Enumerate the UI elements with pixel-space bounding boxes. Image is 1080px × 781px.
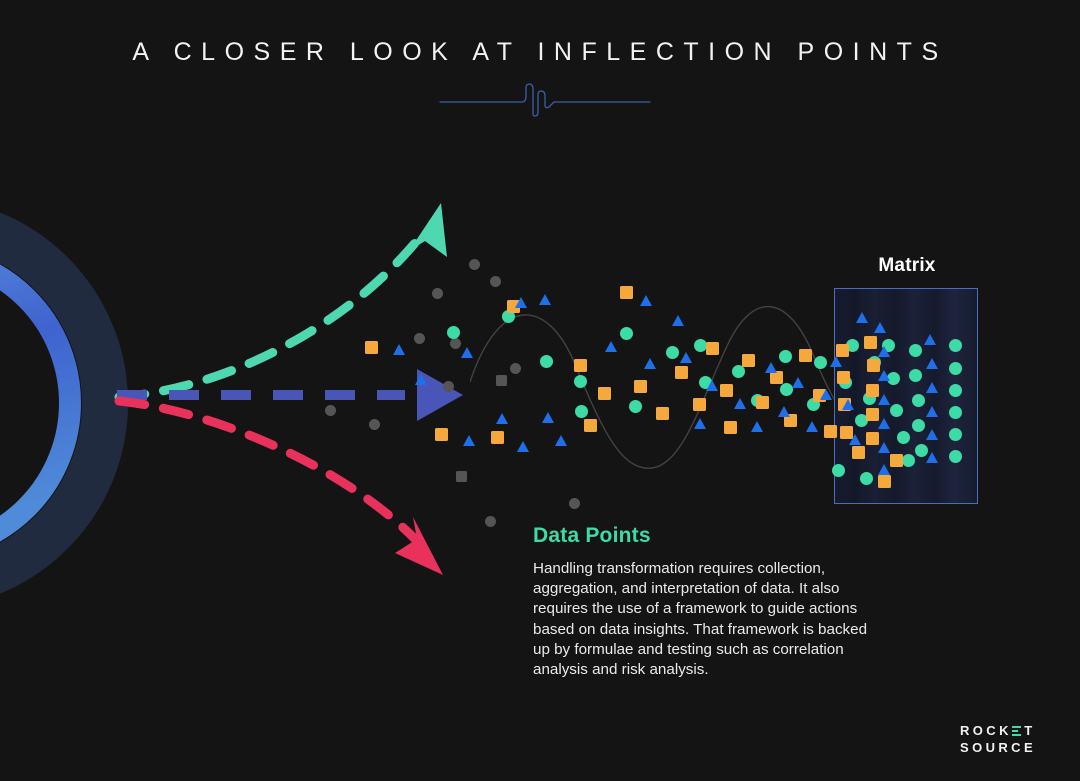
data-point-circle (447, 326, 460, 339)
data-point-triangle (926, 406, 938, 417)
data-point-circle (485, 516, 496, 527)
data-point-triangle (680, 352, 692, 363)
data-point-square (598, 387, 611, 400)
data-point-square (584, 419, 597, 432)
data-point-triangle (555, 435, 567, 446)
data-point-circle (432, 288, 443, 299)
data-point-circle (469, 259, 480, 270)
data-point-circle (860, 472, 873, 485)
data-point-square (456, 471, 467, 482)
data-point-circle (832, 464, 845, 477)
data-point-square (675, 366, 688, 379)
data-point-triangle (694, 418, 706, 429)
data-point-triangle (856, 312, 868, 323)
data-point-square (706, 342, 719, 355)
data-point-circle (540, 355, 553, 368)
data-point-circle (949, 428, 962, 441)
data-point-circle (490, 276, 501, 287)
data-point-triangle (640, 295, 652, 306)
data-point-circle (890, 404, 903, 417)
data-point-circle (814, 356, 827, 369)
data-point-triangle (842, 399, 854, 410)
data-point-circle (325, 405, 336, 416)
data-point-triangle (734, 398, 746, 409)
data-point-triangle (874, 322, 886, 333)
data-point-triangle (515, 297, 527, 308)
data-point-triangle (644, 358, 656, 369)
data-point-circle (949, 406, 962, 419)
data-point-triangle (926, 429, 938, 440)
data-point-circle (629, 400, 642, 413)
data-point-triangle (672, 315, 684, 326)
data-point-triangle (706, 380, 718, 391)
logo-line-one: ROCK T (960, 722, 1048, 739)
data-point-triangle (517, 441, 529, 452)
data-point-circle (369, 419, 380, 430)
data-point-triangle (751, 421, 763, 432)
data-point-circle (694, 339, 707, 352)
data-point-circle (414, 333, 425, 344)
data-point-triangle (926, 452, 938, 463)
data-point-square (878, 475, 891, 488)
data-point-triangle (878, 346, 890, 357)
data-point-circle (443, 381, 454, 392)
data-point-square (720, 384, 733, 397)
data-point-circle (902, 454, 915, 467)
data-point-circle (450, 338, 461, 349)
data-point-square (890, 454, 903, 467)
data-point-square (365, 341, 378, 354)
data-point-circle (912, 419, 925, 432)
caption-body: Handling transformation requires collect… (533, 559, 878, 680)
data-point-triangle (830, 356, 842, 367)
caption-block: Data Points Handling transformation requ… (533, 524, 878, 680)
data-point-circle (949, 384, 962, 397)
data-point-circle (510, 363, 521, 374)
data-point-triangle (878, 464, 890, 475)
rocketsource-logo: ROCK T SOURCE (960, 722, 1048, 756)
data-point-circle (666, 346, 679, 359)
data-point-triangle (542, 412, 554, 423)
logo-line-two: SOURCE (960, 739, 1048, 756)
data-point-circle (912, 394, 925, 407)
logo-rock-text: ROCK (960, 722, 1012, 739)
infographic-canvas: A CLOSER LOOK AT INFLECTION POINTS (0, 0, 1080, 781)
data-point-square (824, 425, 837, 438)
data-point-circle (620, 327, 633, 340)
data-point-circle (575, 405, 588, 418)
data-point-triangle (605, 341, 617, 352)
data-point-triangle (820, 389, 832, 400)
data-point-square (491, 431, 504, 444)
data-point-square (656, 407, 669, 420)
data-point-square (693, 398, 706, 411)
data-point-circle (897, 431, 910, 444)
data-point-square (756, 396, 769, 409)
data-point-square (836, 344, 849, 357)
data-point-circle (569, 498, 580, 509)
data-point-circle (949, 362, 962, 375)
data-point-triangle (806, 421, 818, 432)
data-point-square (620, 286, 633, 299)
data-point-square (799, 349, 812, 362)
data-point-triangle (461, 347, 473, 358)
data-point-triangle (878, 370, 890, 381)
data-point-square (837, 371, 850, 384)
data-point-square (574, 359, 587, 372)
data-point-square (852, 446, 865, 459)
data-point-square (864, 336, 877, 349)
data-point-triangle (926, 358, 938, 369)
caption-heading: Data Points (533, 524, 878, 548)
data-point-square (742, 354, 755, 367)
data-point-triangle (778, 406, 790, 417)
data-point-triangle (765, 362, 777, 373)
three-bar-e-glyph-icon (1012, 726, 1021, 736)
data-point-triangle (878, 442, 890, 453)
data-point-triangle (539, 294, 551, 305)
data-point-circle (779, 350, 792, 363)
data-point-triangle (878, 394, 890, 405)
data-point-circle (949, 339, 962, 352)
data-point-triangle (849, 434, 861, 445)
data-point-square (496, 375, 507, 386)
data-point-triangle (415, 374, 427, 385)
data-point-square (724, 421, 737, 434)
data-point-square (634, 380, 647, 393)
logo-t-text: T (1024, 722, 1035, 739)
data-point-circle (909, 344, 922, 357)
data-point-circle (909, 369, 922, 382)
data-point-triangle (926, 382, 938, 393)
data-point-triangle (463, 435, 475, 446)
data-point-circle (949, 450, 962, 463)
data-point-triangle (924, 334, 936, 345)
data-point-triangle (792, 377, 804, 388)
data-point-triangle (393, 344, 405, 355)
data-point-square (435, 428, 448, 441)
data-point-circle (574, 375, 587, 388)
data-point-triangle (878, 418, 890, 429)
data-point-triangle (496, 413, 508, 424)
